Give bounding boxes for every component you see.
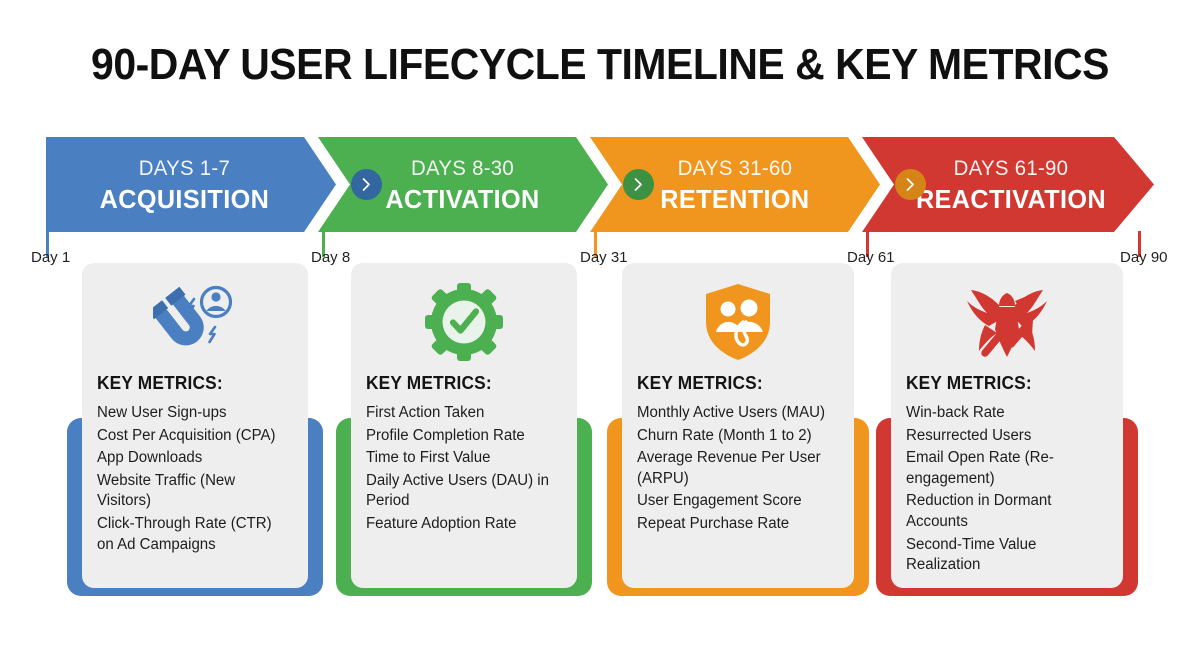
metric-item: User Engagement Score xyxy=(637,491,834,512)
stage-name-label: ACQUISITION xyxy=(99,186,269,212)
metric-item: Profile Completion Rate xyxy=(366,426,557,447)
stage-days-label: DAYS 31-60 xyxy=(660,158,809,179)
metric-item: Feature Adoption Rate xyxy=(366,514,557,535)
metric-item: New User Sign-ups xyxy=(97,403,288,424)
stage-days-label: DAYS 61-90 xyxy=(916,158,1106,179)
key-metrics-heading: KEY METRICS: xyxy=(366,373,555,394)
metric-item: Website Traffic (New Visitors) xyxy=(97,471,288,512)
stage-name-label: ACTIVATION xyxy=(386,186,540,212)
metric-item: Average Revenue Per User (ARPU) xyxy=(637,448,834,489)
stage-card-retention[interactable]: KEY METRICS: Monthly Active Users (MAU) … xyxy=(622,263,854,603)
metric-item: Cost Per Acquisition (CPA) xyxy=(97,426,288,447)
metric-item: Click-Through Rate (CTR) on Ad Campaigns xyxy=(97,514,288,555)
stage-cards: KEY METRICS: New User Sign-ups Cost Per … xyxy=(0,263,1200,608)
key-metrics-heading: KEY METRICS: xyxy=(637,373,832,394)
shield-users-icon xyxy=(636,277,840,367)
stage-name-label: RETENTION xyxy=(660,186,809,212)
metric-item: Email Open Rate (Re-engagement) xyxy=(906,448,1103,489)
stage-card-reactivation[interactable]: KEY METRICS: Win-back Rate Resurrected U… xyxy=(891,263,1123,603)
phoenix-growth-icon xyxy=(905,277,1109,367)
stage-card-acquisition[interactable]: KEY METRICS: New User Sign-ups Cost Per … xyxy=(82,263,308,603)
chevron-right-icon xyxy=(351,169,382,200)
lifecycle-chevron-banner: DAYS 1-7 ACQUISITION DAYS 8-30 ACTIVATIO… xyxy=(46,137,1154,232)
stage-card-activation[interactable]: KEY METRICS: First Action Taken Profile … xyxy=(351,263,577,603)
metric-item: Time to First Value xyxy=(366,448,557,469)
key-metrics-heading: KEY METRICS: xyxy=(906,373,1101,394)
gear-check-icon xyxy=(365,277,563,367)
magnet-user-icon xyxy=(96,277,294,367)
metric-item: Daily Active Users (DAU) in Period xyxy=(366,471,557,512)
metric-item: Reduction in Dormant Accounts xyxy=(906,491,1103,532)
metric-item: Second-Time Value Realization xyxy=(906,535,1103,576)
stage-name-label: REACTIVATION xyxy=(916,186,1106,212)
stage-days-label: DAYS 8-30 xyxy=(386,158,540,179)
metric-item: Win-back Rate xyxy=(906,403,1103,424)
metric-item: Monthly Active Users (MAU) xyxy=(637,403,834,424)
stage-days-label: DAYS 1-7 xyxy=(99,158,269,179)
page-title: 90-DAY USER LIFECYCLE TIMELINE & KEY MET… xyxy=(42,40,1158,90)
metric-item: First Action Taken xyxy=(366,403,557,424)
chevron-right-icon xyxy=(623,169,654,200)
metrics-list: First Action Taken Profile Completion Ra… xyxy=(365,403,563,535)
metric-item: App Downloads xyxy=(97,448,288,469)
chevron-right-icon xyxy=(895,169,926,200)
metrics-list: Win-back Rate Resurrected Users Email Op… xyxy=(905,403,1109,576)
metric-item: Repeat Purchase Rate xyxy=(637,514,834,535)
metrics-list: Monthly Active Users (MAU) Churn Rate (M… xyxy=(636,403,840,535)
stage-chevron-acquisition[interactable]: DAYS 1-7 ACQUISITION xyxy=(46,137,336,232)
metric-item: Churn Rate (Month 1 to 2) xyxy=(637,426,834,447)
metric-item: Resurrected Users xyxy=(906,426,1103,447)
metrics-list: New User Sign-ups Cost Per Acquisition (… xyxy=(96,403,294,555)
key-metrics-heading: KEY METRICS: xyxy=(97,373,286,394)
